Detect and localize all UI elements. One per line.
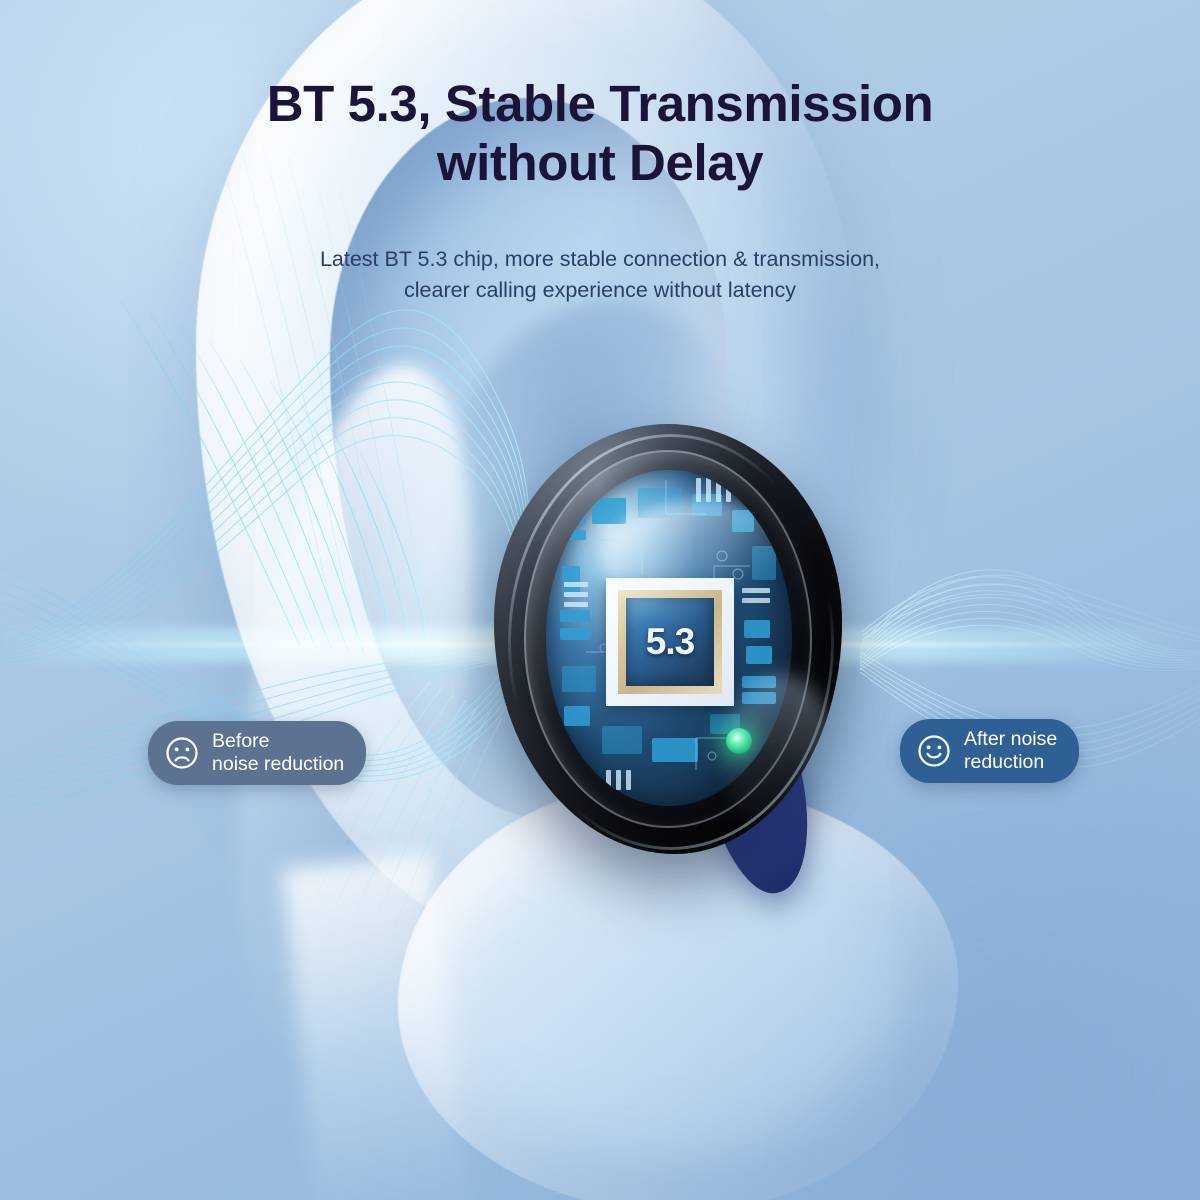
smiling-face-icon: [917, 734, 951, 768]
page-title: BT 5.3, Stable Transmission without Dela…: [0, 74, 1200, 192]
badge-after-line-2: reduction: [964, 751, 1057, 774]
badge-before-text: Before noise reduction: [212, 730, 344, 775]
badge-before-line-1: Before: [212, 730, 269, 752]
page-subtitle: Latest BT 5.3 chip, more stable connecti…: [0, 244, 1200, 307]
headline-line-1: BT 5.3, Stable Transmission: [267, 75, 934, 132]
earbud-product-image: 5.3: [488, 424, 860, 886]
badge-after-line-1: After noise: [964, 728, 1057, 750]
subhead-line-1: Latest BT 5.3 chip, more stable connecti…: [320, 247, 880, 271]
frowning-face-icon: [165, 736, 199, 770]
subhead-line-2: clearer calling experience without laten…: [0, 275, 1200, 306]
badge-before-line-2: noise reduction: [212, 753, 344, 776]
earbud-shell: 5.3: [494, 424, 842, 854]
earbud-lower-highlight: [726, 674, 836, 844]
badge-before-noise-reduction: Before noise reduction: [148, 721, 366, 785]
product-feature-banner: 5.3 BT 5.3, Stable Transmission without …: [0, 0, 1200, 1200]
headline-line-2: without Delay: [0, 133, 1200, 192]
badge-after-noise-reduction: After noise reduction: [900, 719, 1079, 783]
badge-after-text: After noise reduction: [964, 728, 1057, 773]
